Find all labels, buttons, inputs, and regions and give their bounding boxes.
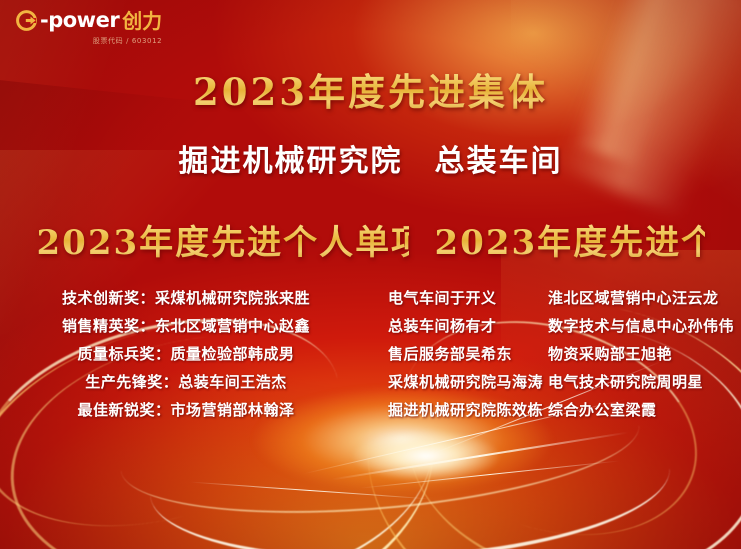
company-logo: -power 创力 股票代码 / 603012 xyxy=(16,10,162,46)
list-item: 掘进机械研究院陈效栋 综合办公室梁霞 xyxy=(388,396,718,424)
special-award-list: 技术创新奖：采煤机械研究院张来胜 销售精英奖：东北区域营销中心赵鑫 质量标兵奖：… xyxy=(0,284,372,424)
person-name: 总装车间杨有才 xyxy=(388,312,548,340)
g-power-circle-arrow-icon xyxy=(16,10,37,31)
award-poster: -power 创力 股票代码 / 603012 2023年度先进集体 掘进机械研… xyxy=(0,0,741,549)
award-lists: 技术创新奖：采煤机械研究院张来胜 销售精英奖：东北区域营销中心赵鑫 质量标兵奖：… xyxy=(0,284,741,424)
collective-award-units: 掘进机械研究院 总装车间 xyxy=(0,136,741,180)
logo-wordmark-cn: 创力 xyxy=(122,11,162,31)
list-item: 生产先锋奖：总装车间王浩杰 xyxy=(85,368,287,396)
person-name: 数字技术与信息中心孙伟伟 xyxy=(548,312,718,340)
list-item: 质量标兵奖：质量检验部韩成男 xyxy=(77,340,294,368)
stock-code-label: 股票代码 / 603012 xyxy=(16,36,162,46)
person-name: 物资采购部王旭艳 xyxy=(548,340,718,368)
list-item: 销售精英奖：东北区域营销中心赵鑫 xyxy=(62,312,310,340)
person-name: 售后服务部吴希东 xyxy=(388,340,548,368)
collective-award-title: 2023年度先进集体 xyxy=(0,62,741,116)
individual-award-title: 2023年度先进个人 xyxy=(435,215,705,264)
list-item: 采煤机械研究院马海涛 电气技术研究院周明星 xyxy=(388,368,718,396)
logo-lockup: -power 创力 xyxy=(16,10,162,31)
individual-special-award-title: 2023年度先进个人单项奖 xyxy=(37,215,409,264)
person-name: 掘进机械研究院陈效栋 xyxy=(388,396,548,424)
list-item: 售后服务部吴希东 物资采购部王旭艳 xyxy=(388,340,718,368)
person-name: 电气车间于开义 xyxy=(388,284,548,312)
person-name: 淮北区域营销中心汪云龙 xyxy=(548,284,718,312)
person-name: 电气技术研究院周明星 xyxy=(548,368,718,396)
person-name: 综合办公室梁霞 xyxy=(548,396,718,424)
logo-wordmark: -power xyxy=(40,10,119,31)
poster-content: 2023年度先进集体 掘进机械研究院 总装车间 2023年度先进个人单项奖 20… xyxy=(0,0,741,549)
list-item: 电气车间于开义 淮北区域营销中心汪云龙 xyxy=(388,284,718,312)
list-item: 最佳新锐奖：市场营销部林翰泽 xyxy=(77,396,294,424)
list-item: 总装车间杨有才 数字技术与信息中心孙伟伟 xyxy=(388,312,718,340)
person-name: 采煤机械研究院马海涛 xyxy=(388,368,548,396)
individual-award-list: 电气车间于开义 淮北区域营销中心汪云龙 总装车间杨有才 数字技术与信息中心孙伟伟… xyxy=(388,284,718,424)
list-item: 技术创新奖：采煤机械研究院张来胜 xyxy=(62,284,310,312)
individual-headings: 2023年度先进个人单项奖 2023年度先进个人 xyxy=(0,215,741,264)
